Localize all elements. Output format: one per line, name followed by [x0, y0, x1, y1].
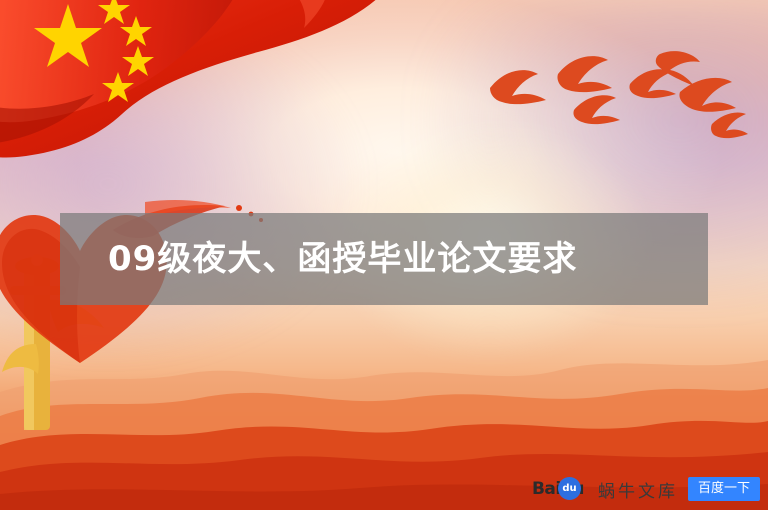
brand-name-label: 蜗牛文库: [598, 477, 678, 502]
page-title: 09级夜大、函授毕业论文要求: [108, 213, 577, 305]
baidu-paw-icon: du: [558, 477, 581, 500]
baidu-logo: Baidu du: [532, 477, 584, 501]
title-overlay-bar: 09级夜大、函授毕业论文要求: [60, 213, 708, 305]
dove-2: [557, 56, 612, 92]
baidu-search-button[interactable]: 百度一下: [688, 477, 760, 501]
banner-image: 09级夜大、函授毕业论文要求 Baidu du 蜗牛文库 百度一下: [0, 0, 768, 510]
dove-1: [490, 70, 546, 104]
dove-3: [573, 95, 620, 124]
watermark-bar: Baidu du 蜗牛文库 百度一下: [532, 476, 760, 502]
doves-group: [480, 48, 760, 158]
dove-5: [656, 51, 700, 86]
dove-7: [711, 112, 748, 138]
chinese-flag: [0, 0, 430, 216]
